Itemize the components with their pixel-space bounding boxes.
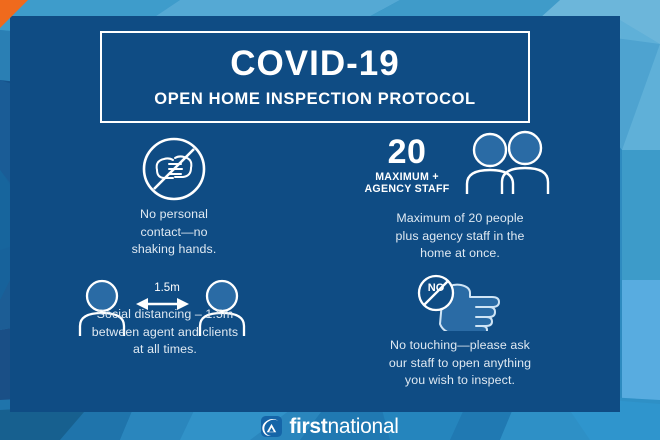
brand-national: national — [328, 415, 399, 438]
max-people-number-block: 20 MAXIMUM + AGENCY STAFF — [364, 135, 449, 194]
caption-line: Maximum of 20 people — [310, 210, 610, 228]
caption-line: at all times. — [20, 341, 310, 359]
caption-line: plus agency staff in the — [310, 228, 610, 246]
brand-first: first — [289, 415, 327, 438]
no-handshake-icon — [38, 132, 310, 206]
caption-line: between agent and clients — [20, 324, 310, 342]
caption-line: contact—no — [38, 224, 310, 242]
caption-line: shaking hands. — [38, 241, 310, 259]
no-badge-text: NO — [428, 282, 445, 294]
covid-protocol-poster: COVID-19 OPEN HOME INSPECTION PROTOCOL — [0, 0, 660, 440]
title-box: COVID-19 OPEN HOME INSPECTION PROTOCOL — [100, 31, 530, 123]
protocol-caption: No personal contact—no shaking hands. — [38, 206, 310, 259]
distance-label: 1.5m — [22, 282, 312, 294]
caption-line: Social distancing – 1.5m — [20, 306, 310, 324]
protocol-item-no-touching: NO No touching—please ask our staff to o… — [310, 270, 610, 400]
protocol-item-no-contact: No personal contact—no shaking hands. — [38, 132, 310, 272]
no-touching-hand-icon: NO — [310, 270, 610, 332]
caption-line: home at once. — [310, 245, 610, 263]
page-subtitle: OPEN HOME INSPECTION PROTOCOL — [154, 90, 475, 108]
max-people-number: 20 — [364, 135, 449, 169]
two-people-icon — [460, 128, 556, 203]
protocol-item-social-distancing: 1.5m Social distancing – 1.5m between ag… — [20, 276, 310, 406]
caption-line: No touching—please ask — [310, 337, 610, 355]
footer-brand: firstnational — [0, 412, 660, 440]
page-title: COVID-19 — [230, 46, 399, 83]
protocol-grid: No personal contact—no shaking hands. 20… — [10, 128, 620, 404]
max-people-label-line1: MAXIMUM + — [364, 172, 449, 183]
caption-line: No personal — [38, 206, 310, 224]
max-people-label-line2: AGENCY STAFF — [364, 184, 449, 195]
protocol-caption: No touching—please ask our staff to open… — [310, 337, 610, 390]
first-national-logo-icon — [261, 416, 282, 437]
brand-wordmark: firstnational — [289, 416, 398, 437]
protocol-item-max-people: 20 MAXIMUM + AGENCY STAFF Maximum of 20 … — [310, 128, 610, 268]
caption-line: you wish to inspect. — [310, 372, 610, 390]
protocol-caption: Social distancing – 1.5m between agent a… — [20, 306, 310, 359]
caption-line: our staff to open anything — [310, 355, 610, 373]
protocol-caption: Maximum of 20 people plus agency staff i… — [310, 210, 610, 263]
